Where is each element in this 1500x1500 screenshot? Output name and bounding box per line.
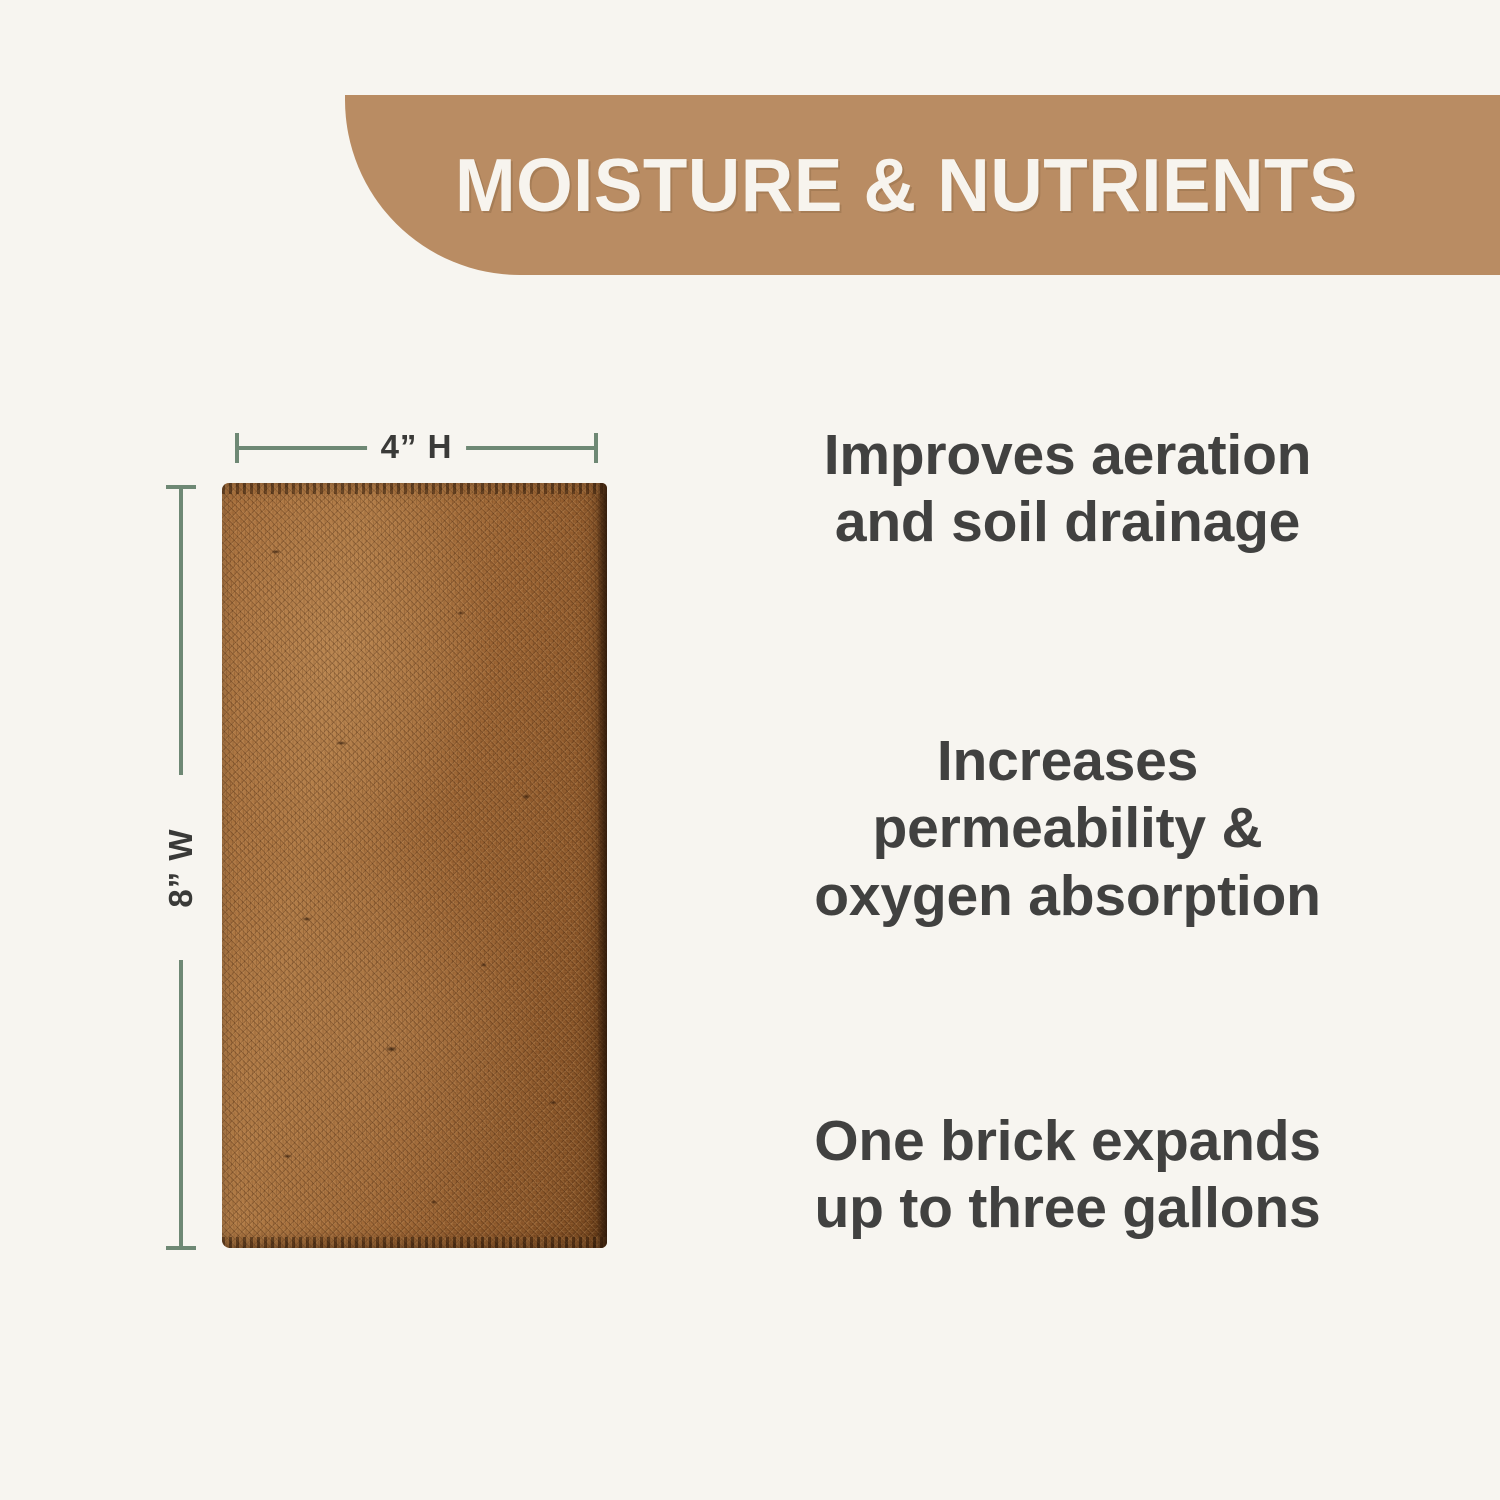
brick-top-edge [222, 483, 607, 494]
benefit-item-permeability: Increases permeability & oxygen absorpti… [755, 728, 1380, 930]
benefit-line: and soil drainage [755, 489, 1380, 556]
coco-coir-brick-image [222, 483, 607, 1248]
width-dimension-segment-left [235, 446, 383, 450]
height-dimension-line: 8” W [164, 485, 198, 1250]
height-dimension-label: 8” W [162, 814, 200, 921]
width-dimension-cap-end [594, 433, 598, 463]
benefit-item-expansion: One brick expands up to three gallons [755, 1108, 1380, 1243]
benefit-line: Improves aeration [755, 422, 1380, 489]
benefit-line: up to three gallons [755, 1175, 1380, 1242]
width-dimension-line: 4” H [235, 431, 598, 463]
benefit-line: Increases [755, 728, 1380, 795]
width-dimension-label: 4” H [367, 428, 467, 466]
benefit-item-aeration: Improves aeration and soil drainage [755, 422, 1380, 557]
height-dimension-segment-top [179, 485, 183, 775]
height-dimension-segment-bottom [179, 960, 183, 1250]
benefit-line: oxygen absorption [755, 863, 1380, 930]
benefits-list: Improves aeration and soil drainage Incr… [755, 0, 1380, 1500]
benefit-line: permeability & [755, 795, 1380, 862]
benefit-line: One brick expands [755, 1108, 1380, 1175]
product-figure: 4” H 8” W [0, 0, 700, 1500]
brick-bottom-edge [222, 1237, 607, 1248]
width-dimension-segment-right [450, 446, 598, 450]
height-dimension-cap-end [166, 1246, 196, 1250]
brick-right-edge-shadow [598, 483, 607, 1248]
